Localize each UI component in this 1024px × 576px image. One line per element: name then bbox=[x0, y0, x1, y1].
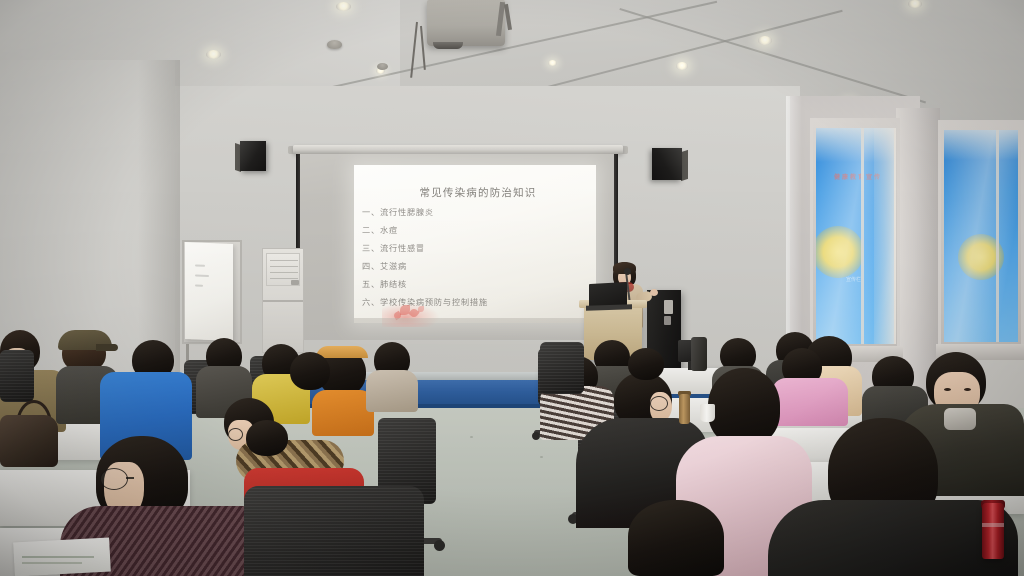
equipment-label bbox=[664, 316, 671, 325]
audience-head bbox=[628, 348, 664, 380]
audience-body bbox=[772, 378, 848, 426]
red-thermos bbox=[982, 503, 1004, 559]
cap-brim bbox=[96, 344, 118, 351]
slide-item: 三、流行性感冒 bbox=[362, 242, 425, 254]
office-chair bbox=[244, 486, 424, 576]
photo-scene: 健康教育宣传 宣传栏 常见传染病的防治知识 一、流行性腮腺炎 二、水痘 三、流行… bbox=[0, 0, 1024, 576]
window-mullion bbox=[996, 130, 999, 342]
tan-thermos bbox=[679, 394, 690, 424]
slide-floral-decoration bbox=[382, 303, 440, 327]
glasses-icon bbox=[228, 428, 243, 441]
cabinet-seam bbox=[263, 300, 303, 302]
projection-screen-roller bbox=[293, 145, 623, 154]
chair-caster bbox=[532, 432, 540, 440]
ceiling-projector bbox=[427, 0, 505, 46]
audience-body bbox=[312, 390, 374, 436]
desk-speaker bbox=[691, 337, 707, 371]
glasses-icon bbox=[650, 396, 668, 411]
presenter-hand bbox=[650, 289, 658, 296]
projected-slide: 常见传染病的防治知识 一、流行性腮腺炎 二、水痘 三、流行性感冒 四、艾滋病 五… bbox=[354, 165, 596, 323]
white-cup bbox=[700, 404, 715, 422]
audience-head bbox=[246, 420, 288, 456]
smoke-detector-icon bbox=[377, 63, 388, 70]
downlight bbox=[758, 36, 772, 45]
slide-item: 四、艾滋病 bbox=[362, 260, 407, 272]
eye bbox=[944, 388, 951, 391]
glass-reflection bbox=[944, 130, 1018, 342]
wall-speaker-left bbox=[240, 141, 266, 171]
downlight bbox=[908, 0, 922, 8]
downlight bbox=[336, 2, 351, 11]
window-glass-right bbox=[944, 130, 1018, 342]
wall-speaker-right bbox=[652, 148, 682, 180]
slide-footer-band bbox=[354, 318, 596, 323]
audience-head bbox=[708, 368, 780, 446]
document-line bbox=[22, 562, 82, 564]
slide-item: 五、肺结核 bbox=[362, 278, 407, 290]
downlight bbox=[548, 60, 557, 66]
projector-lens bbox=[433, 42, 463, 49]
equipment-label bbox=[664, 300, 673, 314]
flipchart-paper bbox=[185, 242, 233, 341]
headband-icon bbox=[316, 346, 368, 358]
wall-speaker-right-side bbox=[681, 150, 688, 181]
downlight bbox=[676, 62, 688, 70]
slide-item: 二、水痘 bbox=[362, 224, 398, 236]
window-shade-band bbox=[944, 130, 1018, 160]
office-chair bbox=[540, 342, 584, 394]
cabinet-badge bbox=[291, 280, 299, 285]
audience-head bbox=[290, 352, 330, 390]
audience-body bbox=[768, 500, 1018, 576]
microphone-icon bbox=[624, 268, 631, 275]
window-curtain bbox=[874, 128, 896, 344]
window-mullion bbox=[861, 128, 864, 344]
smoke-detector-icon bbox=[327, 40, 342, 49]
glasses-bridge bbox=[126, 477, 134, 479]
slide-item: 一、流行性腮腺炎 bbox=[362, 206, 434, 218]
inner-collar bbox=[944, 408, 976, 430]
chair-caster bbox=[434, 540, 445, 551]
audience-head bbox=[628, 500, 724, 576]
office-chair bbox=[0, 350, 34, 402]
slide-title: 常见传染病的防治知识 bbox=[378, 185, 578, 200]
thermos-band bbox=[982, 523, 1004, 527]
eye bbox=[964, 388, 971, 391]
audience-body bbox=[366, 370, 418, 412]
downlight bbox=[206, 50, 221, 59]
glasses-icon bbox=[100, 468, 128, 490]
handbag bbox=[0, 415, 58, 467]
document-line bbox=[22, 556, 94, 558]
